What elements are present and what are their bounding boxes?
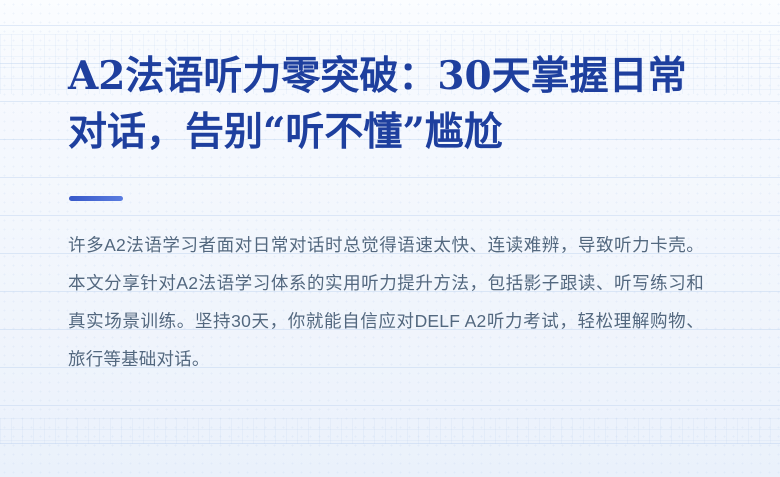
- page-title: A2法语听力零突破：30天掌握日常 对话，告别“听不懂”尴尬: [68, 48, 714, 160]
- article-summary: 许多A2法语学习者面对日常对话时总觉得语速太快、连读难辨，导致听力卡壳。本文分享…: [68, 226, 704, 378]
- article-card: A2法语听力零突破：30天掌握日常 对话，告别“听不懂”尴尬 许多A2法语学习者…: [0, 0, 780, 477]
- article-content: A2法语听力零突破：30天掌握日常 对话，告别“听不懂”尴尬 许多A2法语学习者…: [68, 0, 716, 477]
- accent-divider-bar: [69, 196, 123, 201]
